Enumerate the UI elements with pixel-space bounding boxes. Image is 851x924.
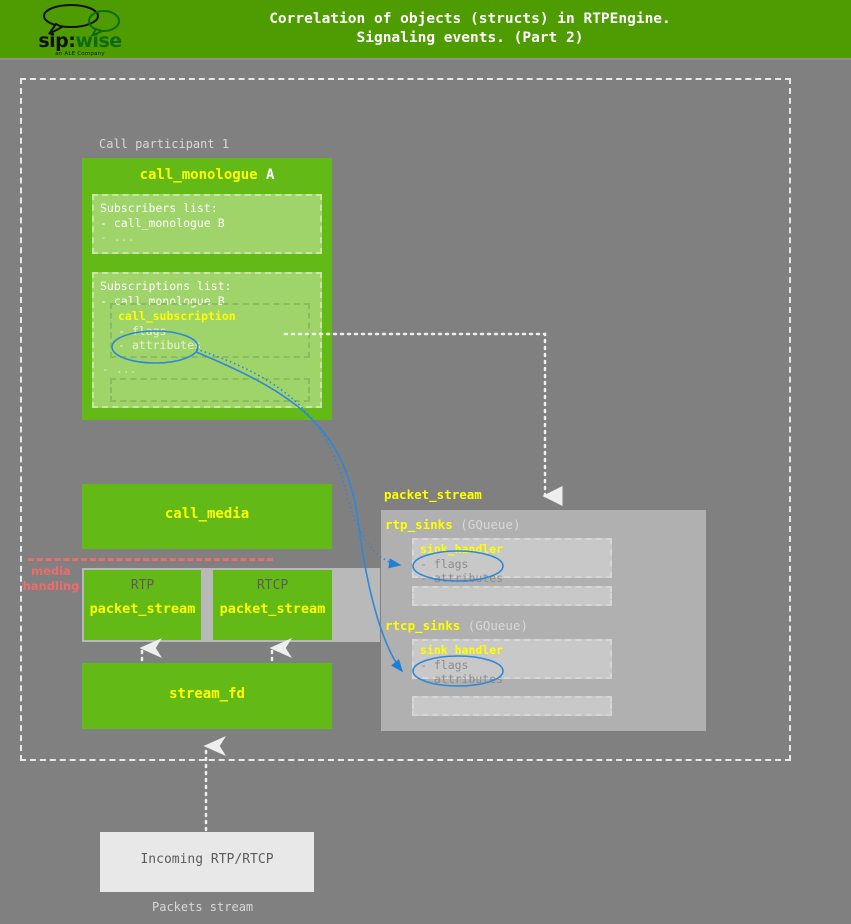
call-media-title: call_media: [82, 506, 332, 522]
rtcp-sink-handler-attributes: - attributes: [420, 672, 604, 687]
packet-stream-panel: rtp_sinks (GQueue) sink_handler - flags …: [381, 510, 706, 731]
rtp-sinks-name: rtp_sinks: [385, 517, 453, 532]
packets-stream-caption: Packets stream: [152, 900, 253, 914]
logo-sip: sip:: [38, 30, 75, 52]
rtp-struct-label: packet_stream: [84, 601, 201, 617]
rtcp-sinks-title: rtcp_sinks (GQueue): [385, 618, 528, 633]
call-subscription-flags: - flags: [118, 324, 302, 339]
call-participant-caption: Call participant 1: [99, 137, 229, 151]
subscriptions-empty-slot: [110, 378, 310, 402]
rtcp-sink-handler-flags: - flags: [420, 658, 604, 673]
subscribers-heading: Subscribers list:: [100, 201, 314, 216]
media-handling-line-2: handling: [20, 579, 82, 594]
rtp-sink-handler-flags: - flags: [420, 557, 604, 572]
rtp-sinks-title: rtp_sinks (GQueue): [385, 517, 520, 532]
rtcp-packet-stream-box: RTCP packet_stream: [213, 570, 332, 640]
call-monologue-title: call_monologue A: [82, 167, 332, 183]
stream-fd-box: stream_fd: [82, 663, 332, 729]
rtcp-sinks-empty-slot: [412, 696, 612, 716]
rtp-sink-handler-box: sink_handler - flags - attributes: [412, 538, 612, 578]
packet-stream-panel-title: packet_stream: [384, 487, 482, 502]
rtp-packet-stream-box: RTP packet_stream: [84, 570, 201, 640]
stream-fd-title: stream_fd: [82, 686, 332, 702]
title-line-2: Signaling events. (Part 2): [140, 29, 800, 48]
page-title: Correlation of objects (structs) in RTPE…: [140, 10, 800, 48]
incoming-label: Incoming RTP/RTCP: [100, 852, 314, 867]
rtcp-sinks-name: rtcp_sinks: [385, 618, 460, 633]
logo-wise: wise: [75, 30, 121, 52]
subscriptions-heading: Subscriptions list:: [100, 279, 314, 294]
rtp-sinks-type: (GQueue): [460, 517, 520, 532]
rtcp-struct-label: packet_stream: [213, 601, 332, 617]
media-handling-divider: [28, 558, 273, 561]
incoming-rtp-rtcp-box: Incoming RTP/RTCP: [100, 832, 314, 892]
rtcp-sink-handler-title: sink_handler: [420, 643, 604, 658]
rtcp-proto-label: RTCP: [213, 578, 332, 593]
page-header: sip:wise an ALE Company Correlation of o…: [0, 0, 851, 60]
rtp-sinks-empty-slot: [412, 586, 612, 606]
diagram-canvas: sip:wise an ALE Company Correlation of o…: [0, 0, 851, 924]
call-media-box: call_media: [82, 484, 332, 549]
subscriptions-item-2: - ...: [102, 362, 137, 377]
logo-tagline: an ALE Company: [30, 51, 130, 57]
media-handling-label: media handling: [20, 564, 82, 594]
rtp-sink-handler-title: sink_handler: [420, 542, 604, 557]
subscribers-item-1: - call_monologue B: [100, 216, 314, 231]
logo-wordmark: sip:wise: [30, 32, 130, 51]
media-handling-line-1: media: [20, 564, 82, 579]
call-monologue-suffix: A: [258, 167, 275, 183]
subscribers-item-2: - ...: [100, 230, 314, 245]
call-subscription-box: call_subscription - flags - attributes: [110, 303, 310, 358]
call-monologue-struct: call_monologue: [140, 167, 258, 183]
call-monologue-box: call_monologue A Subscribers list: - cal…: [82, 158, 332, 420]
call-subscription-attributes: - attributes: [118, 338, 302, 353]
sipwise-logo: sip:wise an ALE Company: [30, 2, 130, 58]
rtcp-sinks-type: (GQueue): [468, 618, 528, 633]
title-line-1: Correlation of objects (structs) in RTPE…: [140, 10, 800, 29]
subscriptions-list-box: Subscriptions list: - call monologue B c…: [92, 272, 322, 408]
rtp-proto-label: RTP: [84, 578, 201, 593]
call-subscription-title: call_subscription: [118, 309, 302, 324]
rtp-sink-handler-attributes: - attributes: [420, 571, 604, 586]
rtcp-sink-handler-box: sink_handler - flags - attributes: [412, 639, 612, 679]
subscribers-list-box: Subscribers list: - call_monologue B - .…: [92, 194, 322, 254]
